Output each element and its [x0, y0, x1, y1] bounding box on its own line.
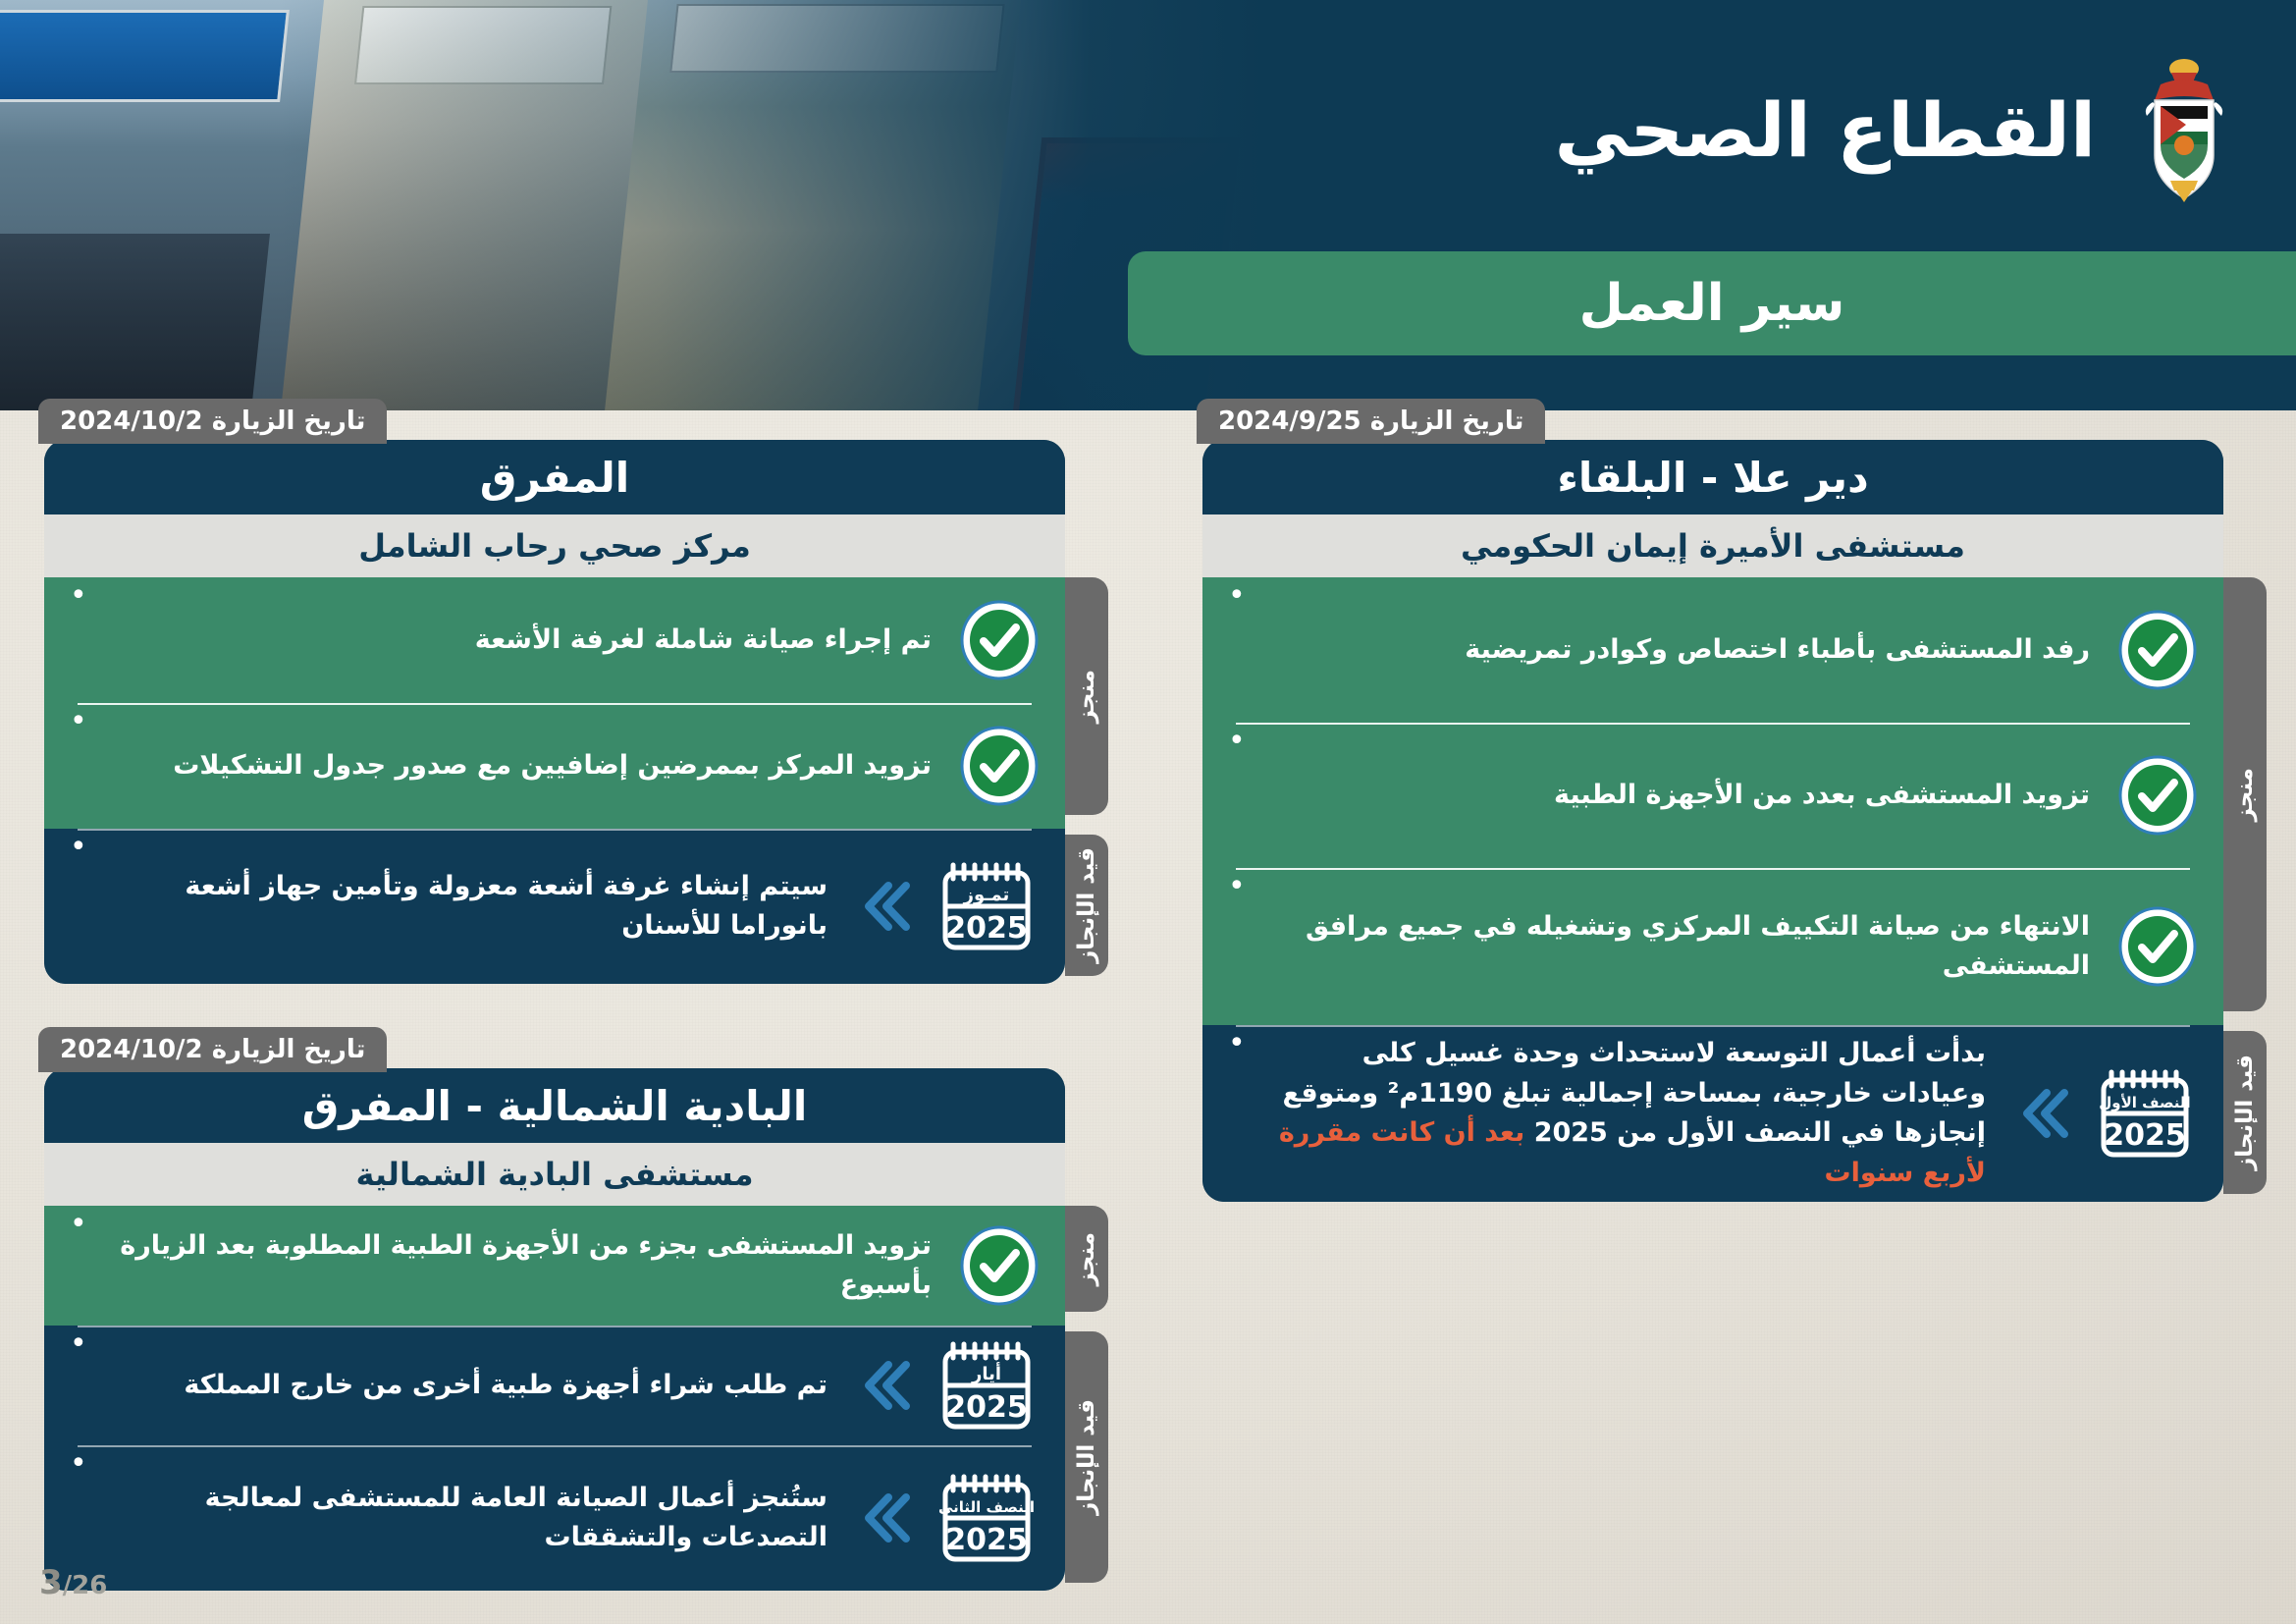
row-text-part: ستُنجز أعمال الصيانة العامة للمستشفى لمع…	[205, 1483, 828, 1553]
row-text: رفد المستشفى بأطباء اختصاص وكوادر تمريضي…	[1267, 630, 2096, 671]
row-text: بدأت أعمال التوسعة لاستحداث وحدة غسيل كل…	[1267, 1034, 1992, 1193]
side-tab-in-progress: قيد الإنجاز	[1065, 835, 1108, 976]
side-tab-done: منجز	[1065, 1206, 1108, 1312]
calendar-icon: النصف الثاني 2025	[937, 1473, 1040, 1563]
card-inner: البادية الشمالية - المفرق مستشفى البادية…	[44, 1068, 1065, 1591]
card-inner: دير علا - البلقاء مستشفى الأميرة إيمان ا…	[1202, 440, 2223, 1202]
calendar-icon: النصف الأول 2025	[2096, 1068, 2198, 1159]
card-subtitle: مركز صحي رحاب الشامل	[44, 514, 1065, 577]
status-row[interactable]: تمـوز 2025 سيتم إنشاء غرفة أشعة معزولة و…	[44, 829, 1065, 984]
row-bullet-icon: •	[1228, 872, 1246, 901]
side-tab-in-progress: قيد الإنجاز	[2223, 1031, 2267, 1194]
page-indicator: 3/26	[39, 1563, 107, 1602]
chevron-double-left-icon	[855, 1355, 916, 1416]
row-bullet-icon: •	[70, 707, 87, 736]
header-photo-collage	[0, 0, 1266, 410]
status-row[interactable]: النصف الأول 2025 بدأت أعمال التوسعة لاست…	[1202, 1025, 2223, 1202]
status-row[interactable]: تزويد المركز بممرضين إضافيين مع صدور جدو…	[44, 703, 1065, 829]
card-rows: رفد المستشفى بأطباء اختصاص وكوادر تمريضي…	[1202, 577, 2223, 1202]
status-row[interactable]: تزويد المستشفى بجزء من الأجهزة الطبية ال…	[44, 1206, 1065, 1326]
row-text-part: تزويد المركز بممرضين إضافيين مع صدور جدو…	[173, 750, 932, 781]
check-circle-icon	[959, 600, 1040, 680]
title-row: القطاع الصحي	[1555, 51, 2237, 208]
page-title: القطاع الصحي	[1555, 86, 2096, 174]
card-title: البادية الشمالية - المفرق	[44, 1068, 1065, 1143]
row-bullet-icon: •	[70, 581, 87, 611]
facility-card: تاريخ الزيارة 2024/10/2 منجز قيد الإنجاز…	[44, 440, 1065, 984]
row-text: الانتهاء من صيانة التكييف المركزي وتشغيل…	[1267, 907, 2096, 987]
check-circle-icon	[959, 1225, 1040, 1306]
row-bullet-icon: •	[70, 1449, 87, 1479]
page-current: 3	[39, 1563, 63, 1602]
calendar-icon: تمـوز 2025	[937, 861, 1040, 951]
card-rows: تم إجراء صيانة شاملة لغرفة الأشعة • تزوي…	[44, 577, 1065, 984]
status-row[interactable]: النصف الثاني 2025 ستُنجز أعمال الصيانة ا…	[44, 1445, 1065, 1591]
row-text: ستُنجز أعمال الصيانة العامة للمستشفى لمع…	[109, 1479, 833, 1558]
card-title: دير علا - البلقاء	[1202, 440, 2223, 514]
row-bullet-icon: •	[70, 1329, 87, 1359]
card-title: المفرق	[44, 440, 1065, 514]
row-bullet-icon: •	[1228, 1029, 1246, 1058]
side-tab-done: منجز	[1065, 577, 1108, 815]
svg-text:النصف الأول: النصف الأول	[2099, 1094, 2190, 1111]
svg-text:2025: 2025	[945, 1390, 1028, 1425]
row-text: تزويد المستشفى بجزء من الأجهزة الطبية ال…	[109, 1226, 937, 1306]
row-text-part: تزويد المستشفى بعدد من الأجهزة الطبية	[1554, 780, 2090, 810]
visit-date-tab: تاريخ الزيارة 2024/10/2	[38, 399, 387, 444]
svg-text:2025: 2025	[945, 1523, 1028, 1557]
check-circle-icon	[2117, 755, 2198, 836]
svg-text:2025: 2025	[945, 911, 1028, 946]
status-row[interactable]: تزويد المستشفى بعدد من الأجهزة الطبية •	[1202, 723, 2223, 868]
row-text-part: رفد المستشفى بأطباء اختصاص وكوادر تمريضي…	[1465, 634, 2090, 665]
row-text: سيتم إنشاء غرفة أشعة معزولة وتأمين جهاز …	[109, 867, 833, 947]
calendar-icon: أيار 2025	[937, 1340, 1040, 1431]
page-separator: /	[63, 1571, 73, 1600]
chevron-double-left-icon	[2013, 1083, 2074, 1144]
svg-text:2025: 2025	[2104, 1118, 2186, 1153]
facility-card: تاريخ الزيارة 2024/10/2 منجز قيد الإنجاز…	[44, 1068, 1065, 1591]
visit-date-tab: تاريخ الزيارة 2024/9/25	[1197, 399, 1545, 444]
row-text: تزويد المركز بممرضين إضافيين مع صدور جدو…	[109, 746, 937, 786]
check-circle-icon	[959, 726, 1040, 806]
header-subtitle-text: سير العمل	[1579, 274, 1845, 333]
check-circle-icon	[2117, 906, 2198, 987]
side-tab-done: منجز	[2223, 577, 2267, 1011]
card-rows: تزويد المستشفى بجزء من الأجهزة الطبية ال…	[44, 1206, 1065, 1591]
row-text-part: الانتهاء من صيانة التكييف المركزي وتشغيل…	[1306, 911, 2090, 982]
row-bullet-icon: •	[70, 1210, 87, 1239]
chevron-double-left-icon	[855, 1488, 916, 1548]
facility-card: تاريخ الزيارة 2024/9/25 منجز قيد الإنجاز…	[1202, 440, 2223, 1202]
status-row[interactable]: رفد المستشفى بأطباء اختصاص وكوادر تمريضي…	[1202, 577, 2223, 723]
header-title-area: القطاع الصحي سير العمل	[1128, 0, 2296, 410]
row-text-part: سيتم إنشاء غرفة أشعة معزولة وتأمين جهاز …	[185, 871, 828, 942]
card-subtitle: مستشفى الأميرة إيمان الحكومي	[1202, 514, 2223, 577]
row-text-part: تزويد المستشفى بجزء من الأجهزة الطبية ال…	[120, 1230, 932, 1301]
status-row[interactable]: تم إجراء صيانة شاملة لغرفة الأشعة •	[44, 577, 1065, 703]
card-inner: المفرق مركز صحي رحاب الشامل تم إجراء صيا…	[44, 440, 1065, 984]
row-text: تم طلب شراء أجهزة طبية أخرى من خارج المم…	[109, 1366, 833, 1406]
slide-header: القطاع الصحي سير العمل	[0, 0, 2296, 410]
page-total: 26	[72, 1571, 107, 1600]
svg-text:أيار: أيار	[971, 1362, 1001, 1384]
chevron-double-left-icon	[855, 876, 916, 937]
row-bullet-icon: •	[70, 833, 87, 862]
visit-date-tab: تاريخ الزيارة 2024/10/2	[38, 1027, 387, 1072]
check-circle-icon	[2117, 610, 2198, 690]
row-text-part: تم طلب شراء أجهزة طبية أخرى من خارج المم…	[184, 1370, 828, 1400]
slide-canvas: القطاع الصحي سير العمل تاريخ الزيارة 202…	[0, 0, 2296, 1624]
row-text-part: تم إجراء صيانة شاملة لغرفة الأشعة	[475, 624, 932, 655]
jordan-coat-of-arms-icon	[2131, 51, 2237, 208]
side-tab-in-progress: قيد الإنجاز	[1065, 1331, 1108, 1583]
row-bullet-icon: •	[1228, 727, 1246, 756]
card-subtitle: مستشفى البادية الشمالية	[44, 1143, 1065, 1206]
svg-text:تمـوز: تمـوز	[963, 885, 1010, 905]
row-bullet-icon: •	[1228, 581, 1246, 611]
status-row[interactable]: الانتهاء من صيانة التكييف المركزي وتشغيل…	[1202, 868, 2223, 1025]
status-row[interactable]: أيار 2025 تم طلب شراء أجهزة طبية أخرى من…	[44, 1326, 1065, 1445]
svg-text:النصف الثاني: النصف الثاني	[938, 1498, 1035, 1516]
photo-fade-overlay	[0, 0, 1266, 410]
header-subtitle-banner: سير العمل	[1128, 251, 2296, 355]
row-text: تم إجراء صيانة شاملة لغرفة الأشعة	[109, 621, 937, 661]
row-text: تزويد المستشفى بعدد من الأجهزة الطبية	[1267, 776, 2096, 816]
